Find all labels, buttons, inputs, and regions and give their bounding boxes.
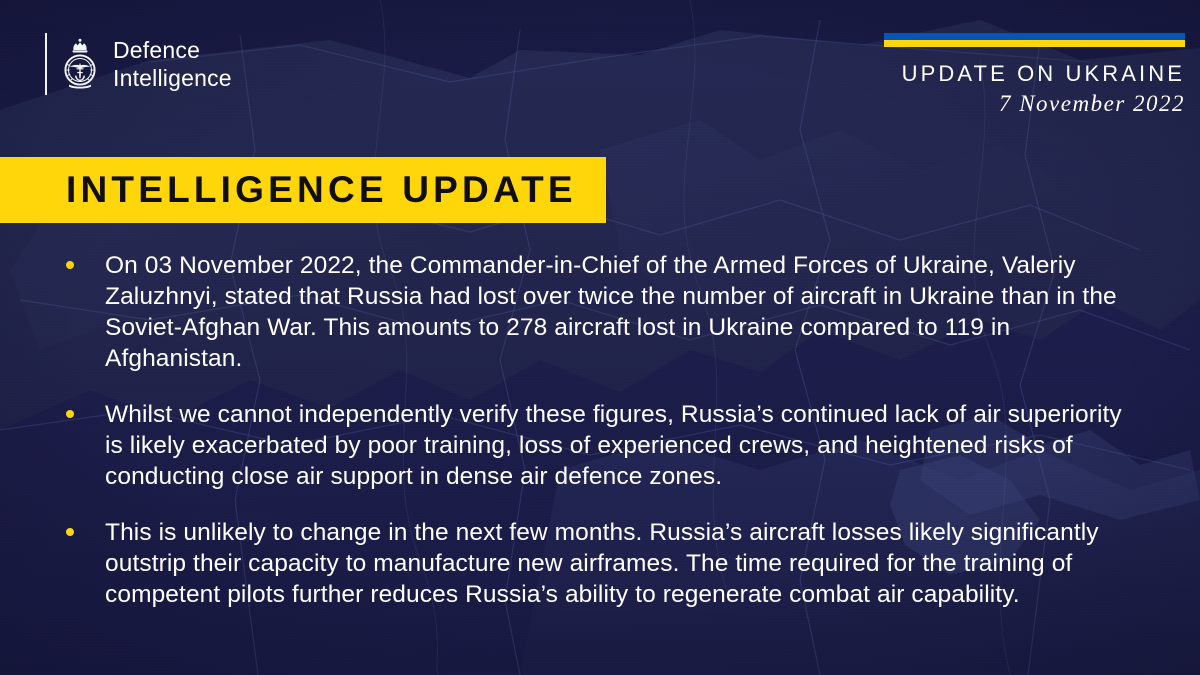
bullet-dot-icon (66, 261, 74, 269)
brand-name: Defence Intelligence (113, 36, 232, 92)
bullet-text: This is unlikely to change in the next f… (105, 517, 1140, 610)
bullet-text: On 03 November 2022, the Commander-in-Ch… (105, 250, 1140, 374)
brand-line-intelligence: Intelligence (113, 64, 232, 92)
brand-lockup: Defence Intelligence (45, 33, 232, 95)
header: Defence Intelligence UPDATE ON UKRAINE 7… (0, 0, 1200, 150)
brand-divider (45, 33, 47, 95)
flag-stripe-yellow (884, 40, 1185, 47)
update-date: 7 November 2022 (884, 90, 1185, 118)
defence-intelligence-crest-icon (59, 37, 101, 91)
brand-line-defence: Defence (113, 36, 232, 64)
intelligence-update-graphic: Defence Intelligence UPDATE ON UKRAINE 7… (0, 0, 1200, 675)
list-item: On 03 November 2022, the Commander-in-Ch… (0, 250, 1200, 374)
list-item: Whilst we cannot independently verify th… (0, 399, 1200, 492)
list-item: This is unlikely to change in the next f… (0, 517, 1200, 610)
bullet-text: Whilst we cannot independently verify th… (105, 399, 1140, 492)
banner-title: INTELLIGENCE UPDATE (66, 170, 577, 210)
bullet-list: On 03 November 2022, the Commander-in-Ch… (0, 250, 1200, 610)
bullet-dot-icon (66, 528, 74, 536)
update-on-ukraine-label: UPDATE ON UKRAINE (884, 61, 1185, 87)
intelligence-update-banner: INTELLIGENCE UPDATE (0, 157, 606, 223)
header-right-block: UPDATE ON UKRAINE 7 November 2022 (884, 33, 1185, 118)
flag-stripe-blue (884, 33, 1185, 40)
ukraine-flag-bar-icon (884, 33, 1185, 47)
bullet-dot-icon (66, 410, 74, 418)
